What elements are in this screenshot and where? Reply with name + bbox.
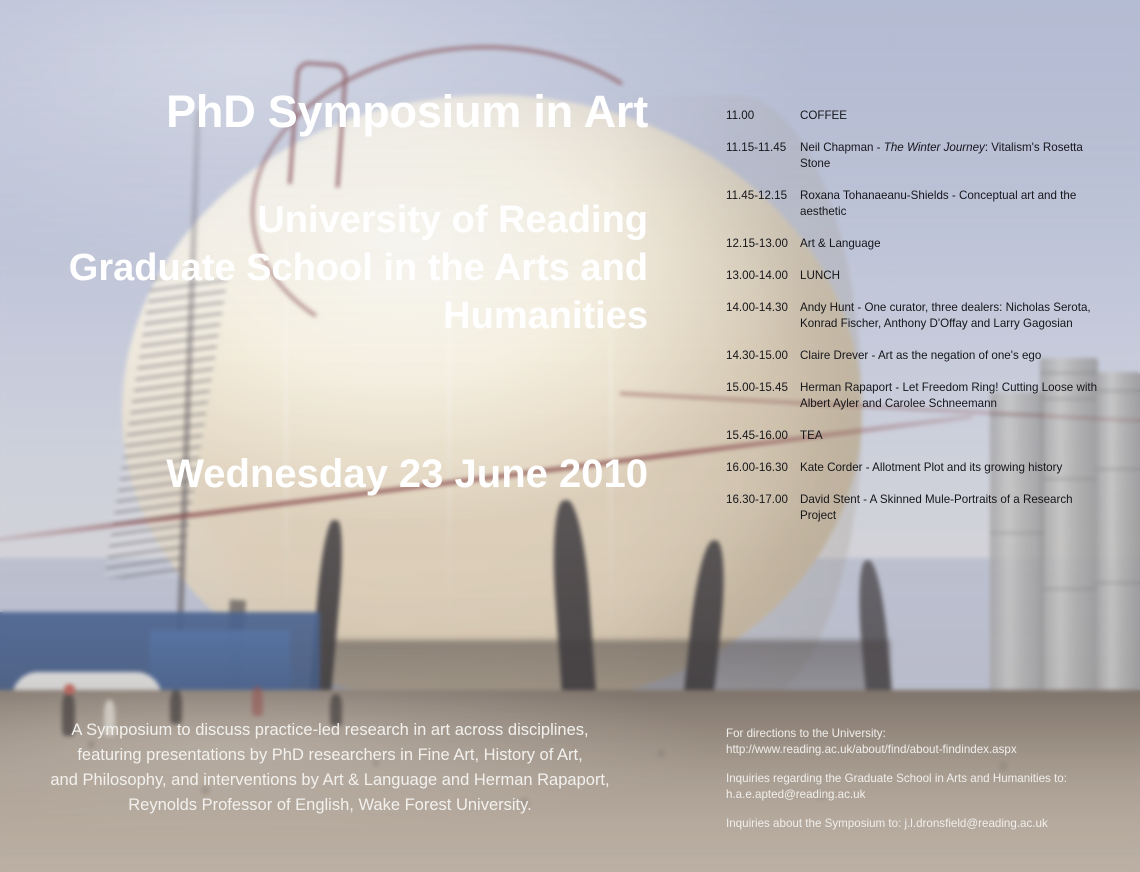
schedule-description: Herman Rapaport - Let Freedom Ring! Cutt…	[800, 380, 1106, 412]
schedule-time: 12.15-13.00	[726, 236, 800, 252]
schedule-row: 16.30-17.00David Stent - A Skinned Mule-…	[726, 492, 1106, 524]
schedule-time: 13.00-14.00	[726, 268, 800, 284]
schedule-row: 13.00-14.00LUNCH	[726, 268, 1106, 284]
schedule-description: David Stent - A Skinned Mule-Portraits o…	[800, 492, 1106, 524]
schedule-description: LUNCH	[800, 268, 1106, 284]
symposium-contact-block: Inquiries about the Symposium to: j.l.dr…	[726, 816, 1116, 832]
graduate-school-email[interactable]: h.a.e.apted@reading.ac.uk	[726, 788, 865, 801]
schedule-row: 14.30-15.00Claire Drever - Art as the ne…	[726, 348, 1106, 364]
schedule-description: Roxana Tohanaeanu-Shields - Conceptual a…	[800, 188, 1106, 220]
schedule-row: 11.45-12.15Roxana Tohanaeanu-Shields - C…	[726, 188, 1106, 220]
schedule-time: 15.00-15.45	[726, 380, 800, 412]
schedule-description: Andy Hunt - One curator, three dealers: …	[800, 300, 1106, 332]
schedule-time: 16.30-17.00	[726, 492, 800, 524]
description-line-4: Reynolds Professor of English, Wake Fore…	[0, 793, 660, 818]
subtitle-block: University of Reading Graduate School in…	[0, 135, 648, 341]
schedule-time: 15.45-16.00	[726, 428, 800, 444]
page-title: PhD Symposium in Art	[0, 88, 648, 135]
schedule-time: 14.30-15.00	[726, 348, 800, 364]
contact-footer: For directions to the University: http:/…	[726, 726, 1116, 846]
schedule-description: TEA	[800, 428, 1106, 444]
schedule-time: 11.45-12.15	[726, 188, 800, 220]
description-line-2: featuring presentations by PhD researche…	[0, 743, 660, 768]
directions-block: For directions to the University: http:/…	[726, 726, 1116, 757]
directions-label: For directions to the University:	[726, 727, 886, 740]
schedule-row: 15.00-15.45Herman Rapaport - Let Freedom…	[726, 380, 1106, 412]
schedule-row: 16.00-16.30Kate Corder - Allotment Plot …	[726, 460, 1106, 476]
description-line-3: and Philosophy, and interventions by Art…	[0, 768, 660, 793]
schedule-row: 15.45-16.00TEA	[726, 428, 1106, 444]
graduate-school-label: Inquiries regarding the Graduate School …	[726, 772, 1067, 785]
schedule-row: 14.00-14.30Andy Hunt - One curator, thre…	[726, 300, 1106, 332]
schedule-time: 11.15-11.45	[726, 140, 800, 172]
graduate-school-contact-block: Inquiries regarding the Graduate School …	[726, 771, 1116, 802]
symposium-contact-line[interactable]: Inquiries about the Symposium to: j.l.dr…	[726, 817, 1048, 830]
schedule-row: 11.00COFFEE	[726, 108, 1106, 124]
schedule-description: Claire Drever - Art as the negation of o…	[800, 348, 1106, 364]
schedule-description: Art & Language	[800, 236, 1106, 252]
subtitle-line-school: Graduate School in the Arts and	[0, 245, 648, 293]
title-block: PhD Symposium in Art University of Readi…	[0, 88, 648, 341]
symposium-description: A Symposium to discuss practice-led rese…	[0, 718, 660, 818]
subtitle-line-humanities: Humanities	[0, 293, 648, 341]
event-date: Wednesday 23 June 2010	[0, 452, 648, 497]
schedule-description: Neil Chapman - The Winter Journey: Vital…	[800, 140, 1106, 172]
schedule-row: 11.15-11.45Neil Chapman - The Winter Jou…	[726, 140, 1106, 172]
schedule-time: 14.00-14.30	[726, 300, 800, 332]
schedule-list: 11.00COFFEE11.15-11.45Neil Chapman - The…	[726, 108, 1106, 540]
schedule-time: 11.00	[726, 108, 800, 124]
directions-url[interactable]: http://www.reading.ac.uk/about/find/abou…	[726, 743, 1017, 756]
schedule-time: 16.00-16.30	[726, 460, 800, 476]
schedule-title-italic: The Winter Journey	[884, 141, 985, 154]
schedule-description: COFFEE	[800, 108, 1106, 124]
schedule-row: 12.15-13.00Art & Language	[726, 236, 1106, 252]
schedule-description: Kate Corder - Allotment Plot and its gro…	[800, 460, 1106, 476]
description-line-1: A Symposium to discuss practice-led rese…	[0, 718, 660, 743]
subtitle-line-university: University of Reading	[0, 197, 648, 245]
symposium-poster: PhD Symposium in Art University of Readi…	[0, 0, 1140, 872]
